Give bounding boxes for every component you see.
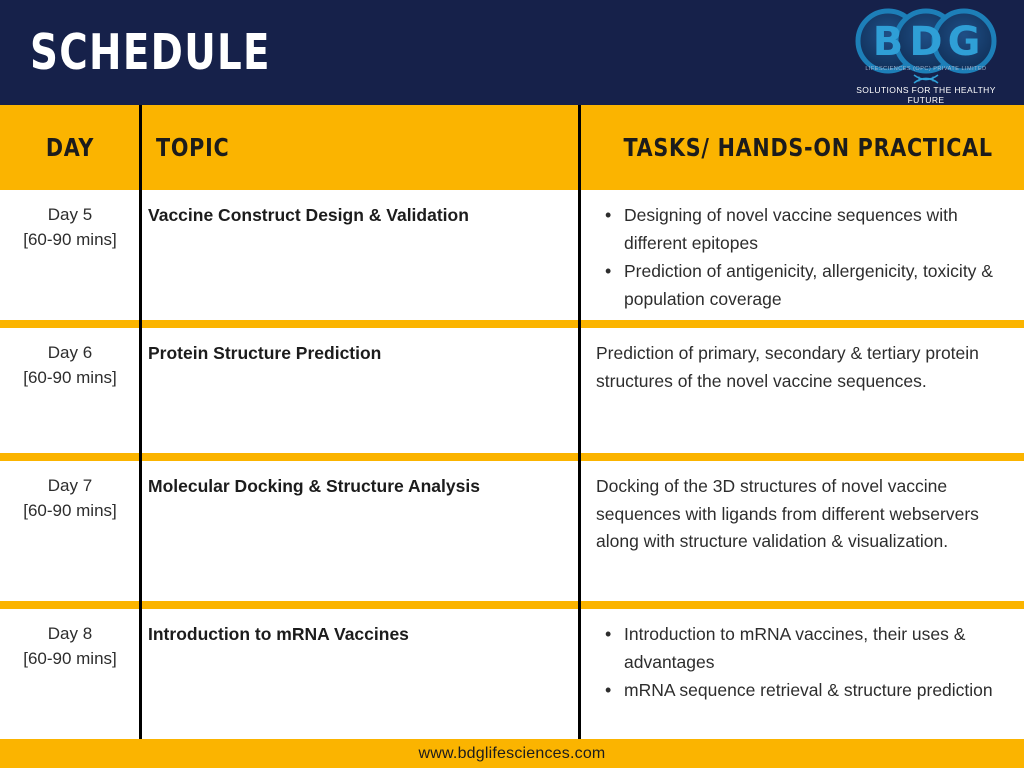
header-banner: SCHEDULE B D G: [0, 0, 1024, 105]
page-title: SCHEDULE: [30, 28, 271, 77]
cell-day: Day 6[60-90 mins]: [0, 328, 140, 453]
column-header-tasks: TASKS/ HANDS-ON PRACTICAL: [613, 105, 1007, 190]
table-row: Day 8[60-90 mins]Introduction to mRNA Va…: [0, 609, 1024, 749]
cell-tasks: Introduction to mRNA vaccines, their use…: [596, 609, 1020, 749]
topic-label: Molecular Docking & Structure Analysis: [148, 476, 480, 496]
cell-day: Day 7[60-90 mins]: [0, 461, 140, 601]
table-row: Day 7[60-90 mins]Molecular Docking & Str…: [0, 461, 1024, 601]
list-item: mRNA sequence retrieval & structure pred…: [596, 677, 1010, 705]
topic-label: Vaccine Construct Design & Validation: [148, 205, 469, 225]
row-separator: [0, 601, 1024, 609]
tasks-list: Designing of novel vaccine sequences wit…: [596, 202, 1010, 314]
cell-topic: Introduction to mRNA Vaccines: [148, 609, 572, 749]
table-header-row: DAY TOPIC TASKS/ HANDS-ON PRACTICAL: [0, 105, 1024, 190]
svg-text:B: B: [873, 19, 904, 65]
day-duration: [60-90 mins]: [23, 228, 117, 253]
tasks-paragraph: Docking of the 3D structures of novel va…: [596, 473, 1010, 556]
row-separator: [0, 320, 1024, 328]
cell-tasks: Docking of the 3D structures of novel va…: [596, 461, 1020, 601]
column-divider-topic-tasks: [578, 105, 581, 749]
logo-company-line: LIFESCIENCES (OPC) PRIVATE LIMITED: [842, 66, 1010, 72]
topic-label: Introduction to mRNA Vaccines: [148, 624, 409, 644]
footer-bar: www.bdglifesciences.com: [0, 739, 1024, 768]
column-header-topic: TOPIC: [156, 105, 533, 190]
svg-text:D: D: [909, 19, 942, 65]
tasks-list: Introduction to mRNA vaccines, their use…: [596, 621, 1010, 705]
day-label: Day 6: [48, 341, 92, 366]
row-separator: [0, 453, 1024, 461]
column-header-day: DAY: [6, 105, 135, 190]
cell-tasks: Designing of novel vaccine sequences wit…: [596, 190, 1020, 320]
day-duration: [60-90 mins]: [23, 499, 117, 524]
cell-topic: Protein Structure Prediction: [148, 328, 572, 453]
day-label: Day 7: [48, 474, 92, 499]
cell-topic: Molecular Docking & Structure Analysis: [148, 461, 572, 601]
logo-tagline: SOLUTIONS FOR THE HEALTHY FUTURE: [842, 85, 1010, 105]
topic-label: Protein Structure Prediction: [148, 343, 381, 363]
cell-topic: Vaccine Construct Design & Validation: [148, 190, 572, 320]
list-item: Introduction to mRNA vaccines, their use…: [596, 621, 1010, 676]
list-item: Prediction of antigenicity, allergenicit…: [596, 258, 1010, 313]
website-url[interactable]: www.bdglifesciences.com: [419, 745, 606, 763]
svg-text:G: G: [948, 19, 981, 65]
day-label: Day 8: [48, 622, 92, 647]
column-divider-day-topic: [139, 105, 142, 749]
cell-day: Day 8[60-90 mins]: [0, 609, 140, 749]
day-duration: [60-90 mins]: [23, 647, 117, 672]
schedule-page: SCHEDULE B D G: [0, 0, 1024, 768]
list-item: Designing of novel vaccine sequences wit…: [596, 202, 1010, 257]
table-row: Day 6[60-90 mins]Protein Structure Predi…: [0, 328, 1024, 453]
day-label: Day 5: [48, 203, 92, 228]
tasks-paragraph: Prediction of primary, secondary & terti…: [596, 340, 1010, 395]
day-duration: [60-90 mins]: [23, 366, 117, 391]
table-row: Day 5[60-90 mins]Vaccine Construct Desig…: [0, 190, 1024, 320]
cell-tasks: Prediction of primary, secondary & terti…: [596, 328, 1020, 453]
cell-day: Day 5[60-90 mins]: [0, 190, 140, 320]
bdg-logo: B D G LIFESCIENCES (OPC) PRIVATE LIMITED…: [842, 5, 1010, 101]
